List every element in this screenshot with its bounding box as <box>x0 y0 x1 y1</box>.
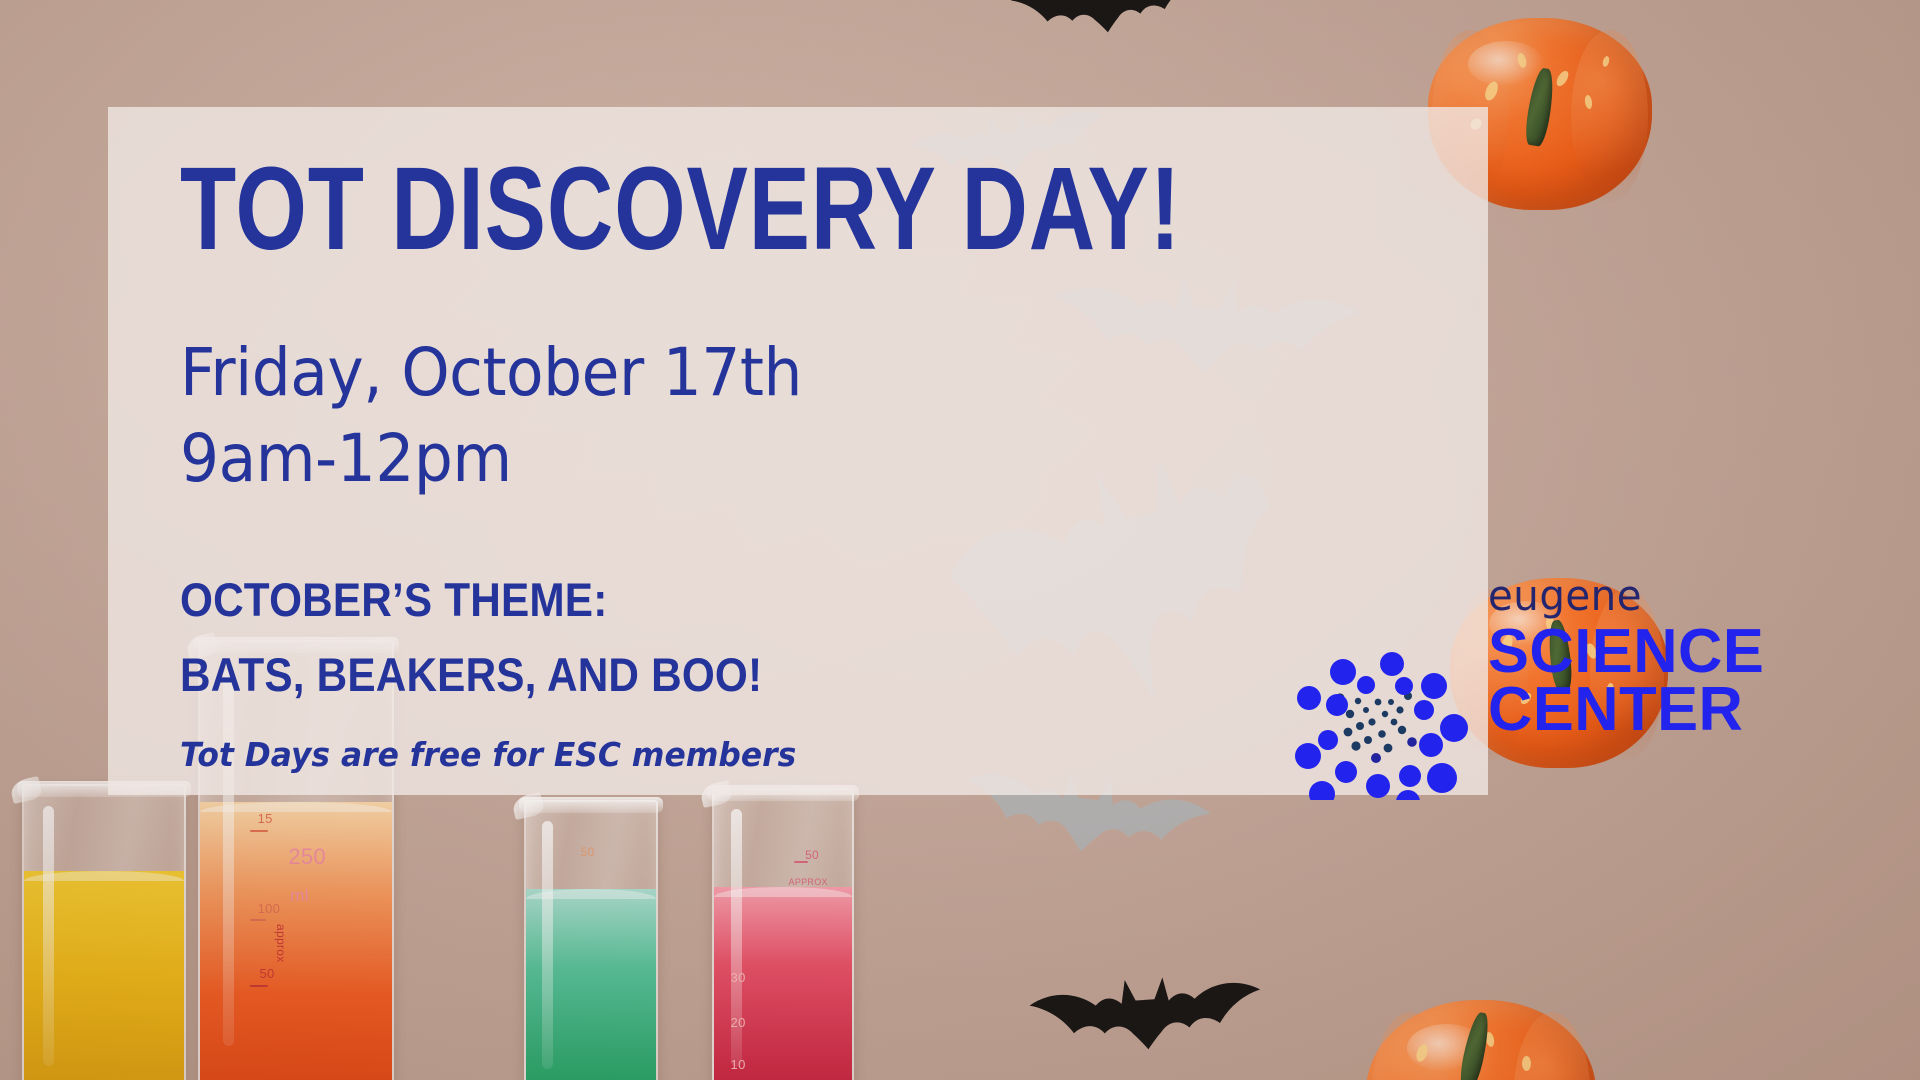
poster-title: TOT DISCOVERY DAY! <box>180 150 1181 268</box>
logo-center-text: CENTER <box>1488 681 1757 739</box>
event-time: 9am-12pm <box>180 425 512 492</box>
logo-science-text: SCIENCE <box>1488 623 1757 681</box>
theme-value: BATS, BEAKERS, AND BOO! <box>180 647 762 702</box>
event-date: Friday, October 17th <box>180 339 802 406</box>
theme-label: OCTOBER’S THEME: <box>180 572 607 627</box>
logo-wordmark: eugene SCIENCE CENTER <box>1488 575 1760 740</box>
phyllotaxis-dot-spiral-icon <box>1290 630 1480 800</box>
membership-note: Tot Days are free for ESC members <box>180 735 796 774</box>
logo-eugene-text: eugene <box>1488 575 1749 617</box>
poster-canvas: 15 250 ml 100 50 approx 50 50 APPROX 30 <box>0 0 1920 1080</box>
eugene-science-center-logo: eugene SCIENCE CENTER <box>1290 575 1760 800</box>
